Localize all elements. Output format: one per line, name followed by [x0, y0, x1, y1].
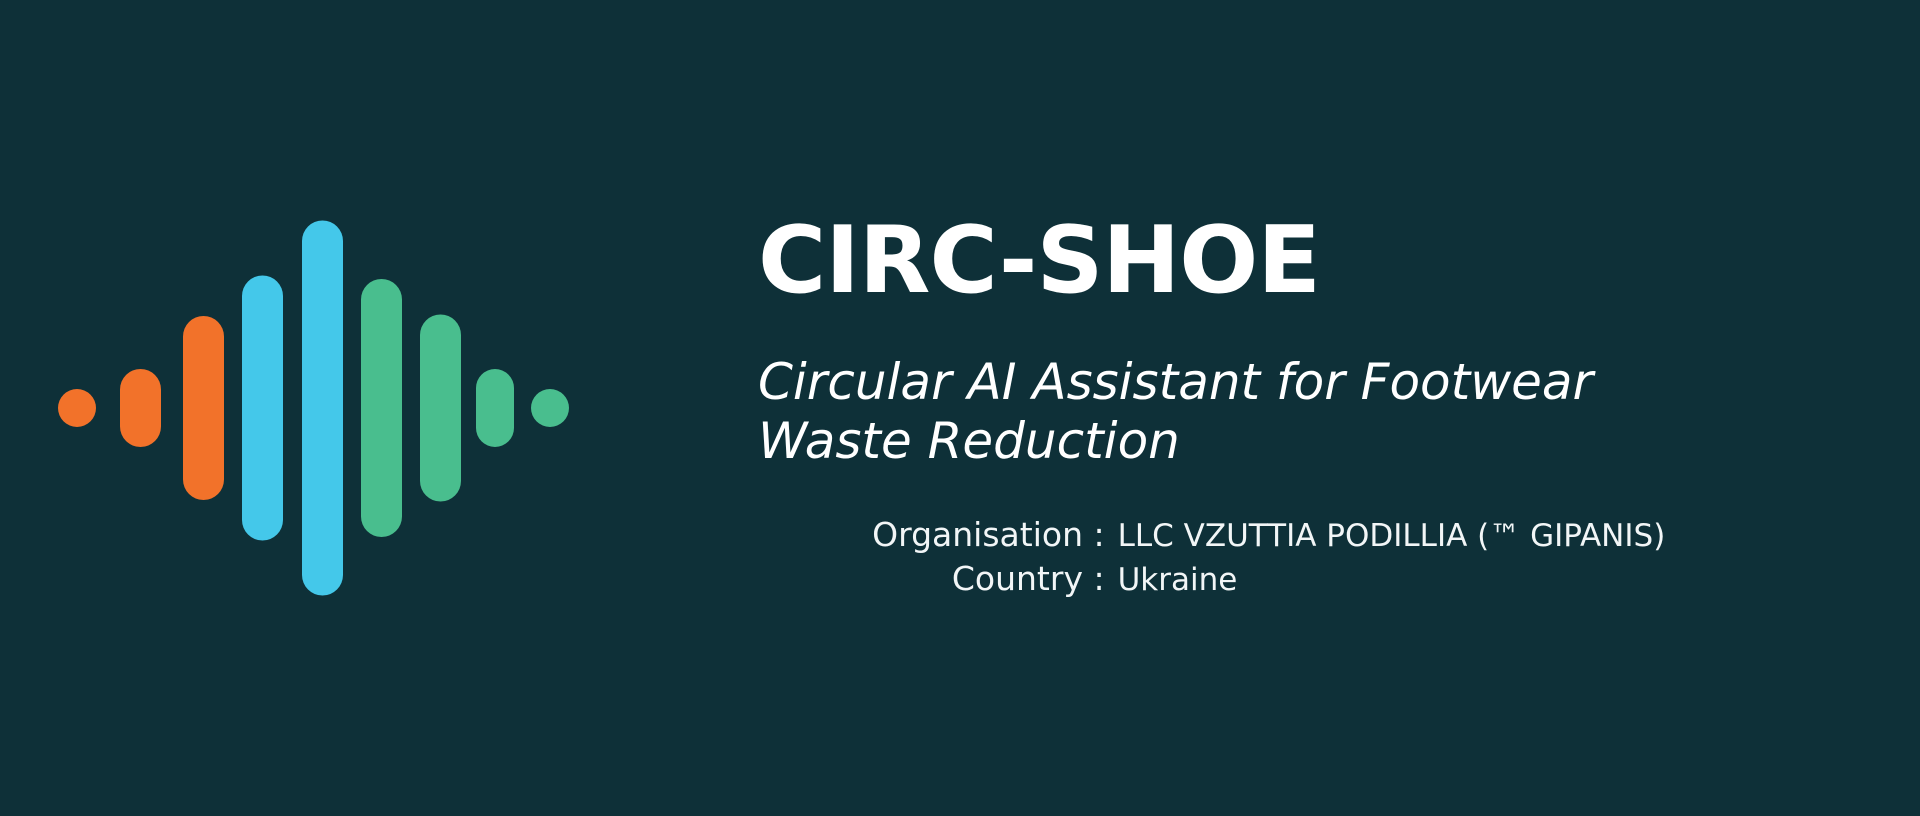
waveform-bar-7 [420, 315, 461, 502]
metadata-value: LLC VZUTTIA PODILLIA (™ GIPANIS) [1118, 514, 1920, 558]
page-title: CIRC-SHOE [758, 214, 1920, 307]
metadata-row: Country :Ukraine [758, 558, 1920, 602]
waveform-bar-5 [302, 221, 343, 596]
audio-waveform-logo [52, 183, 552, 633]
waveform-bar-4 [242, 276, 283, 541]
waveform-bar-2 [120, 369, 161, 447]
project-metadata: Organisation :LLC VZUTTIA PODILLIA (™ GI… [758, 514, 1920, 601]
metadata-row: Organisation :LLC VZUTTIA PODILLIA (™ GI… [758, 514, 1920, 558]
metadata-label: Organisation : [758, 514, 1118, 558]
metadata-value: Ukraine [1118, 558, 1920, 602]
waveform-bar-3 [183, 316, 224, 500]
logo-area [0, 0, 700, 816]
text-area: CIRC-SHOE Circular AI Assistant for Foot… [700, 0, 1920, 816]
waveform-bar-9 [531, 389, 569, 427]
project-subtitle: Circular AI Assistant for Footwear Waste… [758, 353, 1678, 470]
waveform-bar-1 [58, 389, 96, 427]
waveform-bar-6 [361, 279, 402, 537]
metadata-label: Country : [758, 558, 1118, 602]
project-banner: CIRC-SHOE Circular AI Assistant for Foot… [0, 0, 1920, 816]
waveform-bar-8 [476, 369, 514, 447]
